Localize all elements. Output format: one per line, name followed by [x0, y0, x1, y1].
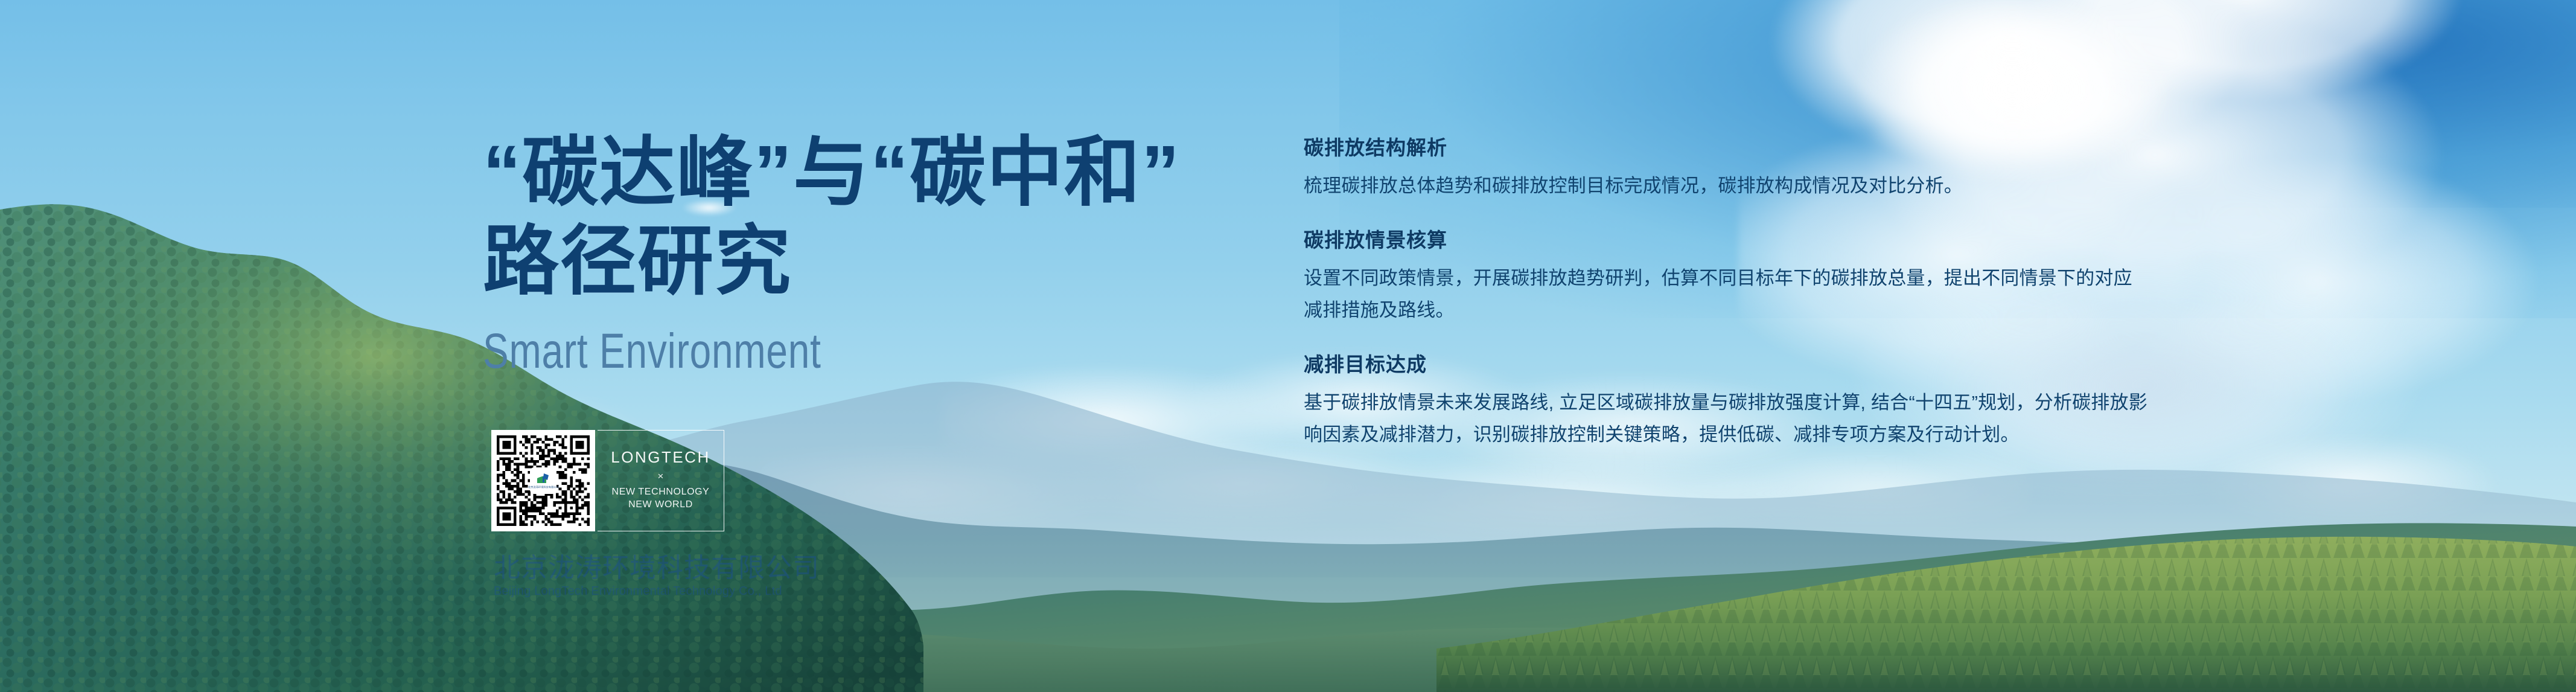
- qr-logo-caption: 北京泷涛环境科技有限公司: [528, 485, 559, 489]
- page-subtitle: Smart Environment: [483, 327, 1085, 376]
- feature-heading-1: 碳排放结构解析: [1304, 136, 2149, 160]
- feature-block-1: 碳排放结构解析 梳理碳排放总体趋势和碳排放控制目标完成情况，碳排放构成情况及对比…: [1304, 136, 2149, 202]
- leaf-logo-icon: [535, 473, 551, 485]
- banner-title-block: “碳达峰”与“碳中和” 路径研究 Smart Environment: [483, 128, 1255, 376]
- page-title-line-1: “碳达峰”与“碳中和”: [483, 128, 1255, 217]
- qr-center-logo: 北京泷涛环境科技有限公司: [531, 468, 556, 493]
- page-title-line-2: 路径研究: [483, 217, 1255, 306]
- brand-name: LONGTECH: [611, 449, 710, 465]
- cross-icon: ×: [658, 471, 664, 481]
- feature-body-3: 基于碳排放情景未来发展路线, 立足区域碳排放量与碳排放强度计算, 结合“十四五”…: [1304, 386, 2149, 451]
- qr-code[interactable]: 北京泷涛环境科技有限公司: [491, 430, 595, 531]
- feature-body-2: 设置不同政策情景，开展碳排放趋势研判，估算不同目标年下的碳排放总量，提出不同情景…: [1304, 262, 2149, 327]
- brand-slogan-box: LONGTECH × NEW TECHNOLOGY NEW WORLD: [598, 430, 724, 531]
- feature-block-3: 减排目标达成 基于碳排放情景未来发展路线, 立足区域碳排放量与碳排放强度计算, …: [1304, 353, 2149, 450]
- feature-list: 碳排放结构解析 梳理碳排放总体趋势和碳排放控制目标完成情况，碳排放构成情况及对比…: [1304, 136, 2149, 450]
- feature-body-1: 梳理碳排放总体趋势和碳排放控制目标完成情况，碳排放构成情况及对比分析。: [1304, 170, 2149, 202]
- qr-slogan-card: 北京泷涛环境科技有限公司 LONGTECH × NEW TECHNOLOGY N…: [491, 430, 724, 531]
- feature-block-2: 碳排放情景核算 设置不同政策情景，开展碳排放趋势研判，估算不同目标年下的碳排放总…: [1304, 228, 2149, 326]
- banner-root: “碳达峰”与“碳中和” 路径研究 Smart Environment 碳排放结构…: [0, 0, 2576, 692]
- feature-heading-2: 碳排放情景核算: [1304, 228, 2149, 252]
- feature-heading-3: 减排目标达成: [1304, 353, 2149, 377]
- brand-tagline: NEW TECHNOLOGY NEW WORLD: [601, 486, 720, 511]
